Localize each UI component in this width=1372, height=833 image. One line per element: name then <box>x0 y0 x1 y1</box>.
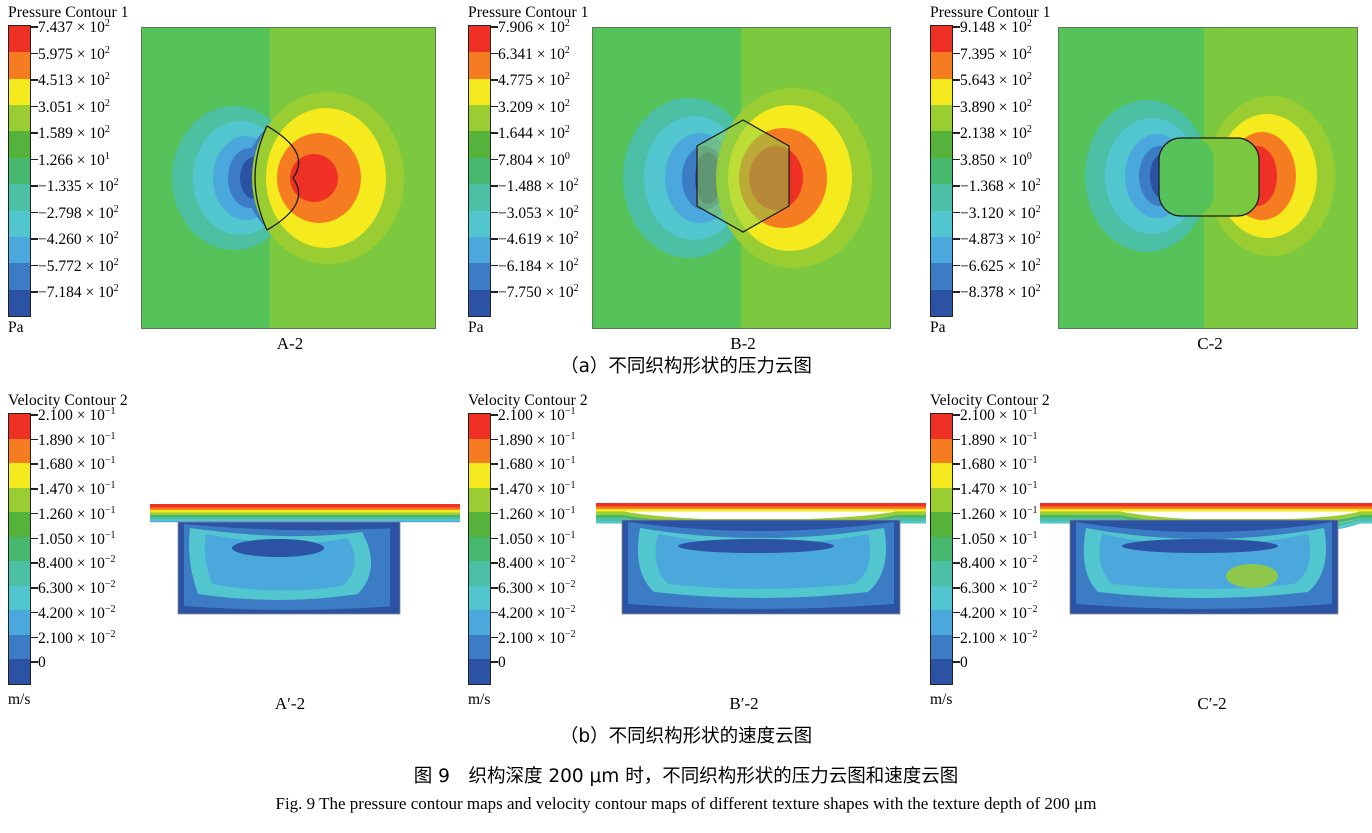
colorbar-level-label: 1.260 × 10−1 <box>960 507 1038 523</box>
panel-a2-prime: Velocity Contour 2 2.100 × 10−11.890 × 1… <box>8 392 168 713</box>
colorbar-segment <box>9 263 30 289</box>
colorbar-tick <box>31 26 38 28</box>
colorbar-segment <box>469 211 490 237</box>
colorbar-level-label: 2.100 × 10−1 <box>498 408 576 424</box>
colorbar-segment <box>9 290 30 316</box>
colorbar-tick <box>31 463 38 465</box>
colorbar-segment <box>469 52 490 78</box>
contour-plot-c2-prime <box>1040 498 1372 638</box>
colorbar-level-label: 1.680 × 10−1 <box>960 457 1038 473</box>
colorbar-level-label: 3.890 × 102 <box>960 100 1032 116</box>
colorbar-tick <box>953 587 960 589</box>
colorbar-tick <box>31 414 38 416</box>
colorbar-ticks-b2 <box>491 25 498 317</box>
colorbar-tick <box>491 132 498 134</box>
colorbar-unit-b2-prime: m/s <box>468 691 490 709</box>
colorbar-swatches-b2-prime <box>468 413 491 685</box>
colorbar-level-label: −3.053 × 102 <box>498 206 579 222</box>
figure-9: Pressure Contour 1 7.437 × 1025.975 × 10… <box>0 0 1372 833</box>
colorbar-level-label: 4.200 × 10−2 <box>38 606 116 622</box>
colorbar-level-label: 6.341 × 102 <box>498 47 570 63</box>
colorbar-tick <box>491 538 498 540</box>
colorbar-a2-prime: 2.100 × 10−11.890 × 10−11.680 × 10−11.47… <box>8 413 168 713</box>
colorbar-segment <box>931 610 952 635</box>
colorbar-level-label: 0 <box>38 655 46 671</box>
colorbar-level-label: 2.100 × 10−1 <box>38 408 116 424</box>
colorbar-segment <box>469 158 490 184</box>
colorbar-segment <box>9 184 30 210</box>
colorbar-tick <box>953 513 960 515</box>
colorbar-tick <box>953 212 960 214</box>
colorbar-level-label: −1.368 × 102 <box>960 179 1041 195</box>
colorbar-level-label: 4.513 × 102 <box>38 73 110 89</box>
colorbar-segment <box>931 512 952 537</box>
contour-svg-a2-prime <box>150 498 470 638</box>
colorbar-segment <box>469 263 490 289</box>
colorbar-level-label: 2.138 × 102 <box>960 126 1032 142</box>
colorbar-segment <box>9 635 30 660</box>
colorbar-segment <box>9 414 30 439</box>
colorbar-segment <box>931 105 952 131</box>
colorbar-tick <box>953 159 960 161</box>
figure-caption-cn: 图 9 织构深度 200 μm 时，不同织构形状的压力云图和速度云图 <box>0 762 1372 788</box>
colorbar-level-label: 1.260 × 10−1 <box>498 507 576 523</box>
colorbar-level-label: 8.400 × 10−2 <box>498 556 576 572</box>
colorbar-segment <box>469 105 490 131</box>
colorbar-segment <box>9 79 30 105</box>
colorbar-tick <box>953 53 960 55</box>
colorbar-segment <box>469 290 490 316</box>
colorbar-level-label: −2.798 × 102 <box>38 206 119 222</box>
contour-svg-c2 <box>1059 28 1358 329</box>
sublabel-c2: C-2 <box>1160 334 1260 354</box>
colorbar-tick <box>31 132 38 134</box>
colorbar-tick <box>953 414 960 416</box>
colorbar-tick <box>491 488 498 490</box>
colorbar-swatches-a2-prime <box>8 413 31 685</box>
colorbar-tick <box>491 612 498 614</box>
colorbar-level-label: 2.100 × 10−1 <box>960 408 1038 424</box>
colorbar-level-label: −7.184 × 102 <box>38 285 119 301</box>
colorbar-level-label: −6.184 × 102 <box>498 259 579 275</box>
sublabel-a2: A-2 <box>240 334 340 354</box>
colorbar-segment <box>469 79 490 105</box>
colorbar-tick <box>491 291 498 293</box>
colorbar-tick <box>953 132 960 134</box>
colorbar-level-label: 7.906 × 102 <box>498 20 570 36</box>
colorbar-swatches-a2 <box>8 25 31 317</box>
colorbar-tick <box>953 562 960 564</box>
colorbar-tick <box>953 79 960 81</box>
colorbar-level-label: 6.300 × 10−2 <box>498 581 576 597</box>
colorbar-segment <box>931 79 952 105</box>
colorbar-level-label: 1.266 × 101 <box>38 153 110 169</box>
colorbar-tick <box>953 26 960 28</box>
colorbar-tick <box>953 185 960 187</box>
colorbar-swatches-c2 <box>930 25 953 317</box>
colorbar-ticks-a2-prime <box>31 413 38 685</box>
cavity-b <box>622 520 900 614</box>
colorbar-level-label: −5.772 × 102 <box>38 259 119 275</box>
colorbar-segment <box>469 635 490 660</box>
colorbar-level-label: 1.050 × 10−1 <box>38 532 116 548</box>
colorbar-segment <box>931 237 952 263</box>
colorbar-tick <box>31 661 38 663</box>
contour-svg-b2-prime <box>596 498 926 638</box>
colorbar-level-label: −8.378 × 102 <box>960 285 1041 301</box>
colorbar-tick <box>31 488 38 490</box>
colorbar-ticks-c2-prime <box>953 413 960 685</box>
colorbar-segment <box>931 158 952 184</box>
contour-svg-c2-prime <box>1040 498 1372 638</box>
colorbar-level-label: 1.680 × 10−1 <box>498 457 576 473</box>
colorbar-tick <box>953 291 960 293</box>
colorbar-tick <box>31 637 38 639</box>
colorbar-segment <box>469 439 490 464</box>
contour-svg-b2 <box>593 28 891 329</box>
colorbar-level-label: 1.470 × 10−1 <box>960 482 1038 498</box>
colorbar-unit-c2-prime: m/s <box>930 691 952 709</box>
colorbar-tick <box>953 238 960 240</box>
colorbar-segment <box>9 26 30 52</box>
colorbar-tick <box>31 159 38 161</box>
colorbar-level-label: 5.975 × 102 <box>38 47 110 63</box>
colorbar-segment <box>469 237 490 263</box>
colorbar-swatches-b2 <box>468 25 491 317</box>
colorbar-level-label: 1.470 × 10−1 <box>498 482 576 498</box>
colorbar-segment <box>9 610 30 635</box>
colorbar-level-label: −3.120 × 102 <box>960 206 1041 222</box>
colorbar-segment <box>931 439 952 464</box>
colorbar-tick <box>953 637 960 639</box>
colorbar-segment <box>931 26 952 52</box>
colorbar-tick <box>31 185 38 187</box>
colorbar-level-label: −7.750 × 102 <box>498 285 579 301</box>
colorbar-level-label: −4.873 × 102 <box>960 232 1041 248</box>
colorbar-level-label: 1.470 × 10−1 <box>38 482 116 498</box>
colorbar-tick <box>491 562 498 564</box>
colorbar-level-label: 8.400 × 10−2 <box>38 556 116 572</box>
colorbar-segment <box>931 537 952 562</box>
colorbar-segment <box>9 52 30 78</box>
colorbar-tick <box>491 106 498 108</box>
colorbar-segment <box>931 290 952 316</box>
colorbar-segment <box>9 561 30 586</box>
colorbar-level-label: 3.051 × 102 <box>38 100 110 116</box>
colorbar-level-label: 4.200 × 10−2 <box>498 606 576 622</box>
colorbar-level-label: −4.260 × 102 <box>38 232 119 248</box>
colorbar-segment <box>9 237 30 263</box>
colorbar-segment <box>469 512 490 537</box>
colorbar-tick <box>953 265 960 267</box>
colorbar-tick <box>491 185 498 187</box>
colorbar-tick <box>953 106 960 108</box>
colorbar-tick <box>491 238 498 240</box>
colorbar-level-label: −4.619 × 102 <box>498 232 579 248</box>
figure-caption-en: Fig. 9 The pressure contour maps and vel… <box>0 794 1372 814</box>
colorbar-tick <box>953 439 960 441</box>
cavity-a <box>178 522 400 614</box>
colorbar-level-label: 1.589 × 102 <box>38 126 110 142</box>
colorbar-ticks-a2 <box>31 25 38 317</box>
colorbar-tick <box>491 79 498 81</box>
cavity-c <box>1070 520 1338 614</box>
colorbar-tick <box>31 212 38 214</box>
colorbar-level-label: 0 <box>960 655 968 671</box>
colorbar-segment <box>9 158 30 184</box>
colorbar-level-label: 4.775 × 102 <box>498 73 570 89</box>
film-band-a <box>150 504 460 522</box>
colorbar-segment <box>931 635 952 660</box>
colorbar-tick <box>491 159 498 161</box>
colorbar-tick <box>953 488 960 490</box>
colorbar-tick <box>953 463 960 465</box>
colorbar-segment <box>469 131 490 157</box>
colorbar-tick <box>953 661 960 663</box>
colorbar-level-label: 2.100 × 10−2 <box>498 631 576 647</box>
colorbar-segment <box>9 131 30 157</box>
colorbar-segment <box>9 586 30 611</box>
colorbar-segment <box>469 561 490 586</box>
colorbar-ticks-c2 <box>953 25 960 317</box>
colorbar-segment <box>469 537 490 562</box>
colorbar-level-label: 7.437 × 102 <box>38 20 110 36</box>
colorbar-tick <box>31 513 38 515</box>
colorbar-segment <box>469 659 490 684</box>
colorbar-tick <box>491 53 498 55</box>
sublabel-b2-prime: B′-2 <box>694 694 794 714</box>
colorbar-level-label: 1.050 × 10−1 <box>960 532 1038 548</box>
colorbar-level-label: 2.100 × 10−2 <box>960 631 1038 647</box>
colorbar-segment <box>931 586 952 611</box>
colorbar-segment <box>931 263 952 289</box>
colorbar-unit-b2: Pa <box>468 319 484 337</box>
colorbar-level-label: −1.335 × 102 <box>38 179 119 195</box>
colorbar-segment <box>9 439 30 464</box>
colorbar-tick <box>31 538 38 540</box>
colorbar-segment <box>931 414 952 439</box>
colorbar-tick <box>491 265 498 267</box>
row-b-caption: （b）不同织构形状的速度云图 <box>536 722 836 748</box>
colorbar-segment <box>469 610 490 635</box>
colorbar-tick <box>31 291 38 293</box>
colorbar-tick <box>491 587 498 589</box>
colorbar-tick <box>31 53 38 55</box>
colorbar-segment <box>931 488 952 513</box>
colorbar-tick <box>953 538 960 540</box>
colorbar-level-label: 3.209 × 102 <box>498 100 570 116</box>
colorbar-segment <box>931 659 952 684</box>
colorbar-tick <box>31 562 38 564</box>
colorbar-level-label: 6.300 × 10−2 <box>38 581 116 597</box>
contour-plot-b2 <box>592 27 891 329</box>
colorbar-segment <box>9 463 30 488</box>
colorbar-segment <box>469 414 490 439</box>
colorbar-tick <box>491 212 498 214</box>
colorbar-level-label: 0 <box>498 655 506 671</box>
colorbar-level-label: 2.100 × 10−2 <box>38 631 116 647</box>
colorbar-tick <box>31 79 38 81</box>
colorbar-tick <box>491 637 498 639</box>
colorbar-tick <box>31 612 38 614</box>
colorbar-level-label: 1.260 × 10−1 <box>38 507 116 523</box>
colorbar-level-label: 1.050 × 10−1 <box>498 532 576 548</box>
colorbar-segment <box>469 184 490 210</box>
contour-plot-b2-prime <box>596 498 926 638</box>
colorbar-tick <box>31 587 38 589</box>
colorbar-level-label: 7.395 × 102 <box>960 47 1032 63</box>
colorbar-segment <box>931 211 952 237</box>
sublabel-c2-prime: C′-2 <box>1162 694 1262 714</box>
colorbar-level-label: 9.148 × 102 <box>960 20 1032 36</box>
colorbar-tick <box>491 26 498 28</box>
sublabel-b2: B-2 <box>693 334 793 354</box>
colorbar-segment <box>469 463 490 488</box>
row-a-caption: （a）不同织构形状的压力云图 <box>536 352 836 378</box>
colorbar-tick <box>491 513 498 515</box>
sublabel-a2-prime: A′-2 <box>240 694 340 714</box>
colorbar-level-label: 1.890 × 10−1 <box>960 433 1038 449</box>
colorbar-segment <box>9 659 30 684</box>
colorbar-tick <box>953 612 960 614</box>
colorbar-segment <box>9 105 30 131</box>
colorbar-segment <box>931 463 952 488</box>
colorbar-segment <box>9 512 30 537</box>
contour-svg-a2 <box>142 28 436 329</box>
colorbar-segment <box>931 561 952 586</box>
colorbar-segment <box>469 26 490 52</box>
colorbar-ticks-b2-prime <box>491 413 498 685</box>
colorbar-tick <box>31 439 38 441</box>
colorbar-segment <box>9 537 30 562</box>
colorbar-level-label: 1.680 × 10−1 <box>38 457 116 473</box>
colorbar-level-label: 8.400 × 10−2 <box>960 556 1038 572</box>
colorbar-level-label: −6.625 × 102 <box>960 259 1041 275</box>
colorbar-level-label: 1.890 × 10−1 <box>498 433 576 449</box>
colorbar-segment <box>469 488 490 513</box>
colorbar-level-label: 3.850 × 100 <box>960 153 1032 169</box>
colorbar-tick <box>31 238 38 240</box>
colorbar-tick <box>491 414 498 416</box>
colorbar-tick <box>491 661 498 663</box>
colorbar-level-label: 5.643 × 102 <box>960 73 1032 89</box>
colorbar-unit-a2-prime: m/s <box>8 691 30 709</box>
colorbar-level-label: 1.644 × 102 <box>498 126 570 142</box>
colorbar-swatches-c2-prime <box>930 413 953 685</box>
colorbar-unit-a2: Pa <box>8 319 24 337</box>
colorbar-segment <box>931 52 952 78</box>
colorbar-level-label: −1.488 × 102 <box>498 179 579 195</box>
colorbar-level-label: 7.804 × 100 <box>498 153 570 169</box>
contour-plot-a2 <box>141 27 436 329</box>
contour-plot-a2-prime <box>150 498 470 638</box>
colorbar-level-label: 4.200 × 10−2 <box>960 606 1038 622</box>
colorbar-segment <box>9 211 30 237</box>
colorbar-tick <box>491 439 498 441</box>
colorbar-level-label: 1.890 × 10−1 <box>38 433 116 449</box>
colorbar-tick <box>491 463 498 465</box>
colorbar-segment <box>469 586 490 611</box>
colorbar-segment <box>931 184 952 210</box>
colorbar-segment <box>931 131 952 157</box>
colorbar-unit-c2: Pa <box>930 319 946 337</box>
colorbar-level-label: 6.300 × 10−2 <box>960 581 1038 597</box>
contour-plot-c2 <box>1058 27 1358 329</box>
colorbar-tick <box>31 265 38 267</box>
colorbar-tick <box>31 106 38 108</box>
colorbar-segment <box>9 488 30 513</box>
